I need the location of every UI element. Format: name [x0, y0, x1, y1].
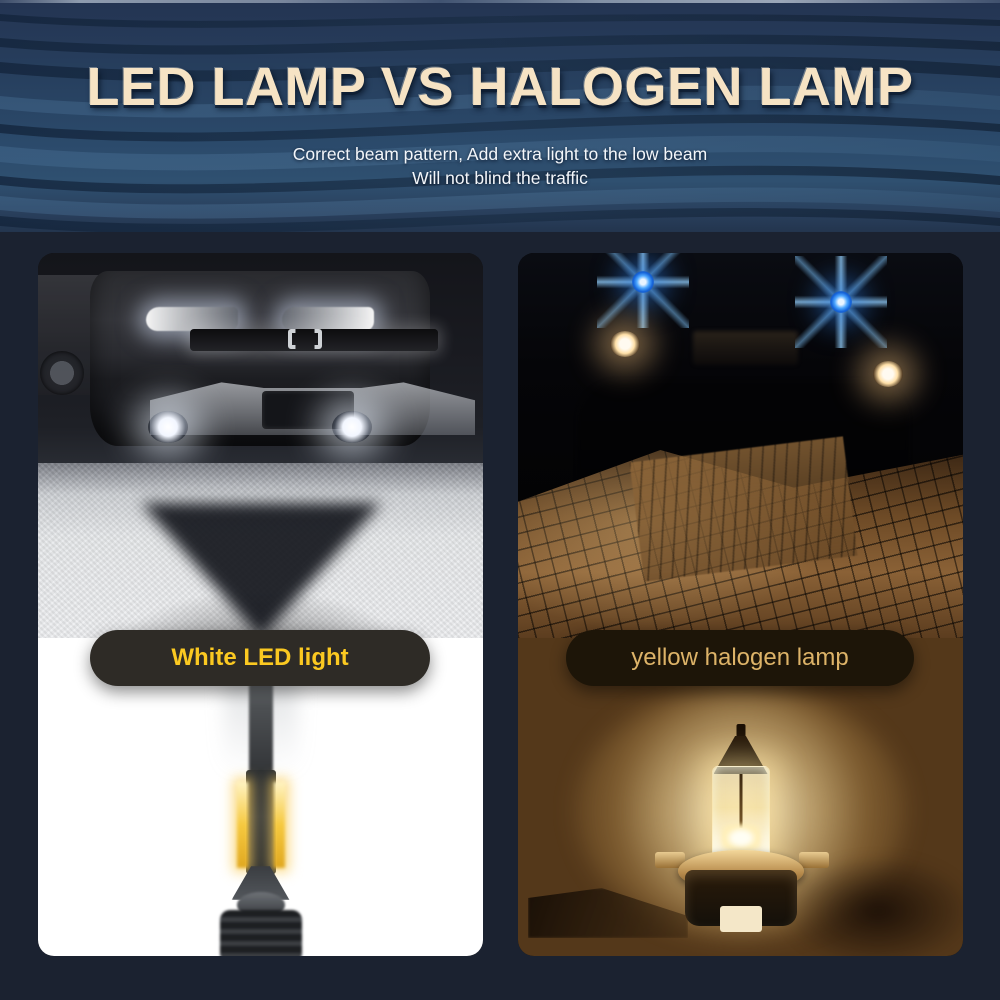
halogen-night-photo: [518, 253, 963, 638]
halogen-bulb-tab-right: [799, 852, 829, 868]
subtitle-line-1: Correct beam pattern, Add extra light to…: [293, 144, 707, 164]
led-bulb-base: [220, 910, 302, 956]
honda-logo-icon: [286, 325, 324, 353]
panel-led: White LED light: [38, 253, 483, 956]
led-headlight-left: [146, 307, 238, 331]
fog-light-right: [332, 411, 372, 443]
page-title: LED LAMP VS HALOGEN LAMP: [86, 60, 913, 114]
halogen-bulb-filament: [721, 824, 761, 852]
led-chip-right: [274, 782, 285, 868]
car-front: [90, 271, 430, 446]
halogen-headlight-left: [610, 331, 640, 357]
panel-halogen: yellow halogen lamp: [518, 253, 963, 956]
halogen-bulb-shadow: [783, 856, 963, 956]
blue-accent-light-right: [830, 291, 852, 313]
page-subtitle: Correct beam pattern, Add extra light to…: [293, 142, 707, 190]
blue-accent-light-left: [632, 271, 654, 293]
led-bulb-core: [246, 770, 276, 874]
comparison-panels: White LED light: [0, 232, 1000, 1000]
fog-light-left: [148, 411, 188, 443]
led-night-scene: [38, 253, 483, 638]
product-comparison-page: LED LAMP VS HALOGEN LAMP Correct beam pa…: [0, 0, 1000, 1000]
led-night-photo: [38, 253, 483, 638]
halogen-night-scene: [518, 253, 963, 638]
halogen-headlight-right: [873, 361, 903, 387]
badge-white-led-light: White LED light: [90, 630, 430, 686]
halogen-bulb-connector: [720, 906, 762, 932]
badge-yellow-halogen-lamp: yellow halogen lamp: [566, 630, 914, 686]
halogen-bulb-support-wire: [739, 774, 742, 828]
header-banner: LED LAMP VS HALOGEN LAMP Correct beam pa…: [0, 0, 1000, 232]
beam-cutoff-shadow: [141, 503, 381, 638]
dim-license-plate: [693, 331, 798, 365]
subtitle-line-2: Will not blind the traffic: [293, 166, 707, 190]
led-chip-left: [237, 782, 248, 868]
header-text-block: LED LAMP VS HALOGEN LAMP Correct beam pa…: [0, 0, 1000, 232]
background-car-wheel: [40, 351, 84, 395]
